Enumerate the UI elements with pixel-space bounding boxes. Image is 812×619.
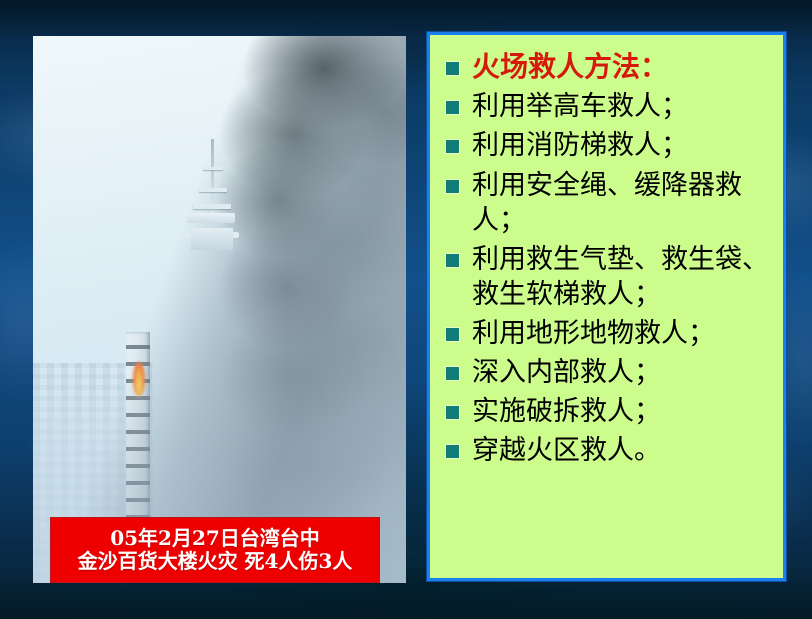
square-bullet-icon bbox=[446, 254, 459, 267]
square-bullet-icon bbox=[446, 445, 459, 458]
caption-line-1: 05年2月27日台湾台中 bbox=[110, 528, 320, 550]
list-item-label: 利用安全绳、缓降器救人； bbox=[472, 168, 775, 238]
photo-mast-crossbar-1 bbox=[203, 167, 223, 170]
list-item-label: 穿越火区救人。 bbox=[472, 433, 775, 468]
list-item: 利用举高车救人； bbox=[440, 89, 775, 124]
content-panel: 火场救人方法： 利用举高车救人； 利用消防梯救人； 利用安全绳、缓降器救人； 利… bbox=[427, 32, 786, 581]
list-item-label: 利用地形地物救人； bbox=[472, 316, 775, 351]
list-item: 利用消防梯救人； bbox=[440, 128, 775, 163]
list-item-label: 利用举高车救人； bbox=[472, 89, 775, 124]
list-item: 深入内部救人； bbox=[440, 355, 775, 390]
square-bullet-icon bbox=[446, 406, 459, 419]
caption-line-2: 金沙百货大楼火灾 死4人伤3人 bbox=[78, 551, 353, 573]
photo-mast-crossbar-3 bbox=[193, 204, 231, 209]
list-item: 穿越火区救人。 bbox=[440, 433, 775, 468]
list-item: 利用地形地物救人； bbox=[440, 316, 775, 351]
photo-caption-banner: 05年2月27日台湾台中 金沙百货大楼火灾 死4人伤3人 bbox=[51, 518, 379, 582]
list-item: 实施破拆救人； bbox=[440, 394, 775, 429]
square-bullet-icon bbox=[446, 62, 459, 75]
photo-smoke-plume bbox=[33, 36, 406, 583]
list-item: 利用救生气垫、救生袋、救生软梯救人； bbox=[440, 242, 775, 312]
list-item-label: 利用救生气垫、救生袋、救生软梯救人； bbox=[472, 242, 775, 312]
square-bullet-icon bbox=[446, 367, 459, 380]
square-bullet-icon bbox=[446, 180, 459, 193]
list-item-label: 火场救人方法： bbox=[472, 49, 775, 85]
square-bullet-icon bbox=[446, 140, 459, 153]
photo-tower-deck-1 bbox=[187, 213, 235, 223]
list-item: 火场救人方法： bbox=[440, 49, 775, 85]
list-item: 利用安全绳、缓降器救人； bbox=[440, 168, 775, 238]
list-item-label: 实施破拆救人； bbox=[472, 394, 775, 429]
square-bullet-icon bbox=[446, 101, 459, 114]
list-item-label: 利用消防梯救人； bbox=[472, 128, 775, 163]
list-item-label: 深入内部救人； bbox=[472, 355, 775, 390]
square-bullet-icon bbox=[446, 328, 459, 341]
rescue-methods-list: 火场救人方法： 利用举高车救人； 利用消防梯救人； 利用安全绳、缓降器救人； 利… bbox=[440, 49, 775, 468]
fire-photograph bbox=[33, 36, 406, 583]
photo-tower-deck-2 bbox=[191, 228, 233, 250]
photo-mast-crossbar-2 bbox=[199, 188, 227, 192]
presentation-slide: 05年2月27日台湾台中 金沙百货大楼火灾 死4人伤3人 火场救人方法： 利用举… bbox=[0, 0, 812, 619]
